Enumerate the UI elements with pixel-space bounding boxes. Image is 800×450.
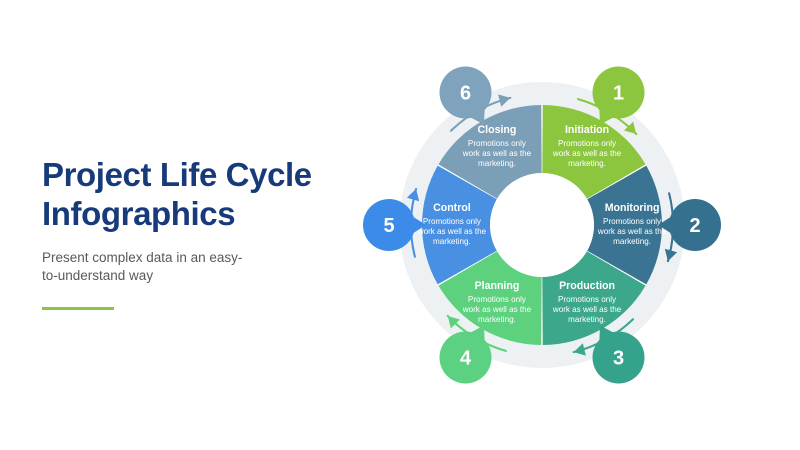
segment-description-line: marketing. bbox=[613, 237, 651, 246]
page-subtitle-line-2: to-understand way bbox=[42, 267, 362, 285]
step-marker-number: 6 bbox=[460, 82, 471, 104]
infographic-slide: Project Life Cycle Infographics Present … bbox=[0, 0, 800, 450]
step-marker-number: 4 bbox=[460, 348, 472, 370]
page-subtitle: Present complex data in an easy- to-unde… bbox=[42, 249, 362, 285]
page-title-line-2: Infographics bbox=[42, 194, 362, 233]
segment-description-line: work as well as the bbox=[462, 149, 532, 158]
segment-description-line: work as well as the bbox=[417, 227, 487, 236]
center-hub bbox=[490, 173, 594, 277]
page-title-line-1: Project Life Cycle bbox=[42, 155, 362, 194]
page-subtitle-line-1: Present complex data in an easy- bbox=[42, 249, 362, 267]
segment-title: Monitoring bbox=[605, 202, 660, 214]
step-marker-3[interactable]: 3 bbox=[593, 325, 645, 383]
life-cycle-wheel-svg: InitiationPromotions onlywork as well as… bbox=[360, 0, 800, 450]
segment-description-line: marketing. bbox=[433, 237, 471, 246]
segment-title: Planning bbox=[475, 280, 520, 292]
step-marker-6[interactable]: 6 bbox=[440, 66, 492, 124]
segment-description-line: Promotions only bbox=[423, 217, 482, 226]
segment-description-line: Promotions only bbox=[558, 295, 617, 304]
segment-description-line: Promotions only bbox=[468, 295, 527, 304]
segment-description-line: Promotions only bbox=[603, 217, 662, 226]
step-marker-4[interactable]: 4 bbox=[440, 325, 492, 383]
accent-divider bbox=[42, 307, 114, 310]
segment-description-line: marketing. bbox=[478, 159, 516, 168]
segment-description-line: marketing. bbox=[568, 315, 606, 324]
page-title: Project Life Cycle Infographics bbox=[42, 155, 362, 233]
segment-description-line: work as well as the bbox=[552, 305, 622, 314]
segment-title: Control bbox=[433, 202, 471, 214]
center-hub-layer bbox=[490, 173, 594, 277]
heading-block: Project Life Cycle Infographics Present … bbox=[42, 155, 362, 310]
segment-title: Initiation bbox=[565, 124, 609, 136]
step-marker-number: 5 bbox=[383, 215, 394, 237]
segment-description-line: Promotions only bbox=[468, 139, 527, 148]
segment-description-line: work as well as the bbox=[597, 227, 667, 236]
step-marker-number: 3 bbox=[613, 348, 624, 370]
segment-description-line: marketing. bbox=[478, 315, 516, 324]
segment-description-line: work as well as the bbox=[552, 149, 622, 158]
segment-description-line: marketing. bbox=[568, 159, 606, 168]
segment-description-line: work as well as the bbox=[462, 305, 532, 314]
step-marker-number: 2 bbox=[689, 215, 700, 237]
segment-description-line: Promotions only bbox=[558, 139, 617, 148]
segment-title: Production bbox=[559, 280, 615, 292]
step-marker-1[interactable]: 1 bbox=[593, 66, 645, 124]
step-marker-number: 1 bbox=[613, 82, 624, 104]
segment-title: Closing bbox=[478, 124, 517, 136]
life-cycle-wheel: InitiationPromotions onlywork as well as… bbox=[360, 0, 800, 450]
